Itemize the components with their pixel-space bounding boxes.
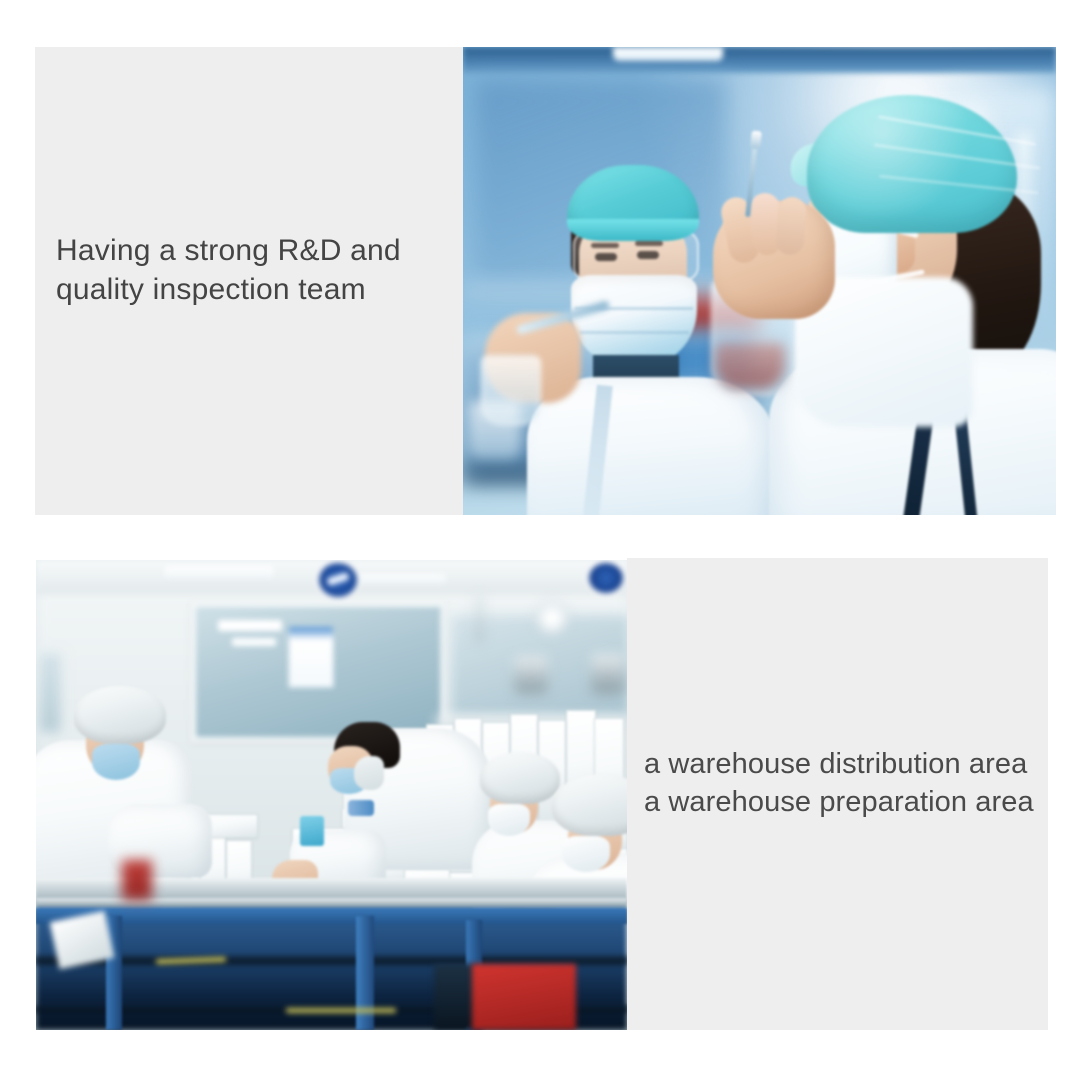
bottom-caption-line-2: a warehouse preparation area: [644, 783, 1048, 821]
teal-product-item: [300, 816, 324, 846]
interior-window-light-2: [232, 638, 276, 646]
flask-liquid: [715, 343, 785, 389]
hanging-tube: [476, 594, 483, 642]
blue-frame-rail-top: [36, 908, 627, 924]
steel-container-2: [591, 654, 625, 694]
hairnet-rib-1: [878, 115, 1036, 146]
yellow-floor-tape-2: [286, 1008, 396, 1013]
worker-left-face-mask: [92, 744, 140, 780]
blue-safety-sign-icon-2: [586, 560, 626, 596]
wall-clock-icon: [536, 602, 568, 634]
red-bin: [472, 964, 576, 1030]
worker-front-right-hairnet: [552, 774, 627, 836]
rd-quality-inspection-photo: Two lab technicians in blue hairnets, fa…: [463, 47, 1056, 515]
lab-ceiling: [463, 47, 1056, 73]
worker-bending-hood: [354, 756, 384, 790]
worker-bending-badge: [348, 800, 374, 816]
technician-right-hairnet: [807, 95, 1017, 233]
red-item-left: [122, 860, 152, 900]
worker-left-hairnet: [74, 686, 166, 744]
top-caption: Having a strong R&D and quality inspecti…: [56, 231, 446, 309]
worker-centre-right-face-mask: [488, 804, 530, 836]
hairnet-rib-3: [879, 175, 1038, 195]
wall-notice-poster: [288, 626, 334, 688]
technician-left-face-mask: [571, 275, 697, 367]
warehouse-packaging-photo: Workers in white coats and hairnets pack…: [36, 560, 627, 1030]
hand-finger-3: [775, 196, 807, 256]
top-text-panel: Having a strong R&D and quality inspecti…: [35, 47, 463, 515]
top-section: Having a strong R&D and quality inspecti…: [35, 47, 1056, 515]
technician-left-hairnet-band: [567, 219, 699, 241]
ceiling-light-icon-2: [354, 574, 446, 584]
steel-container-1: [514, 656, 548, 694]
bottom-caption: a warehouse distribution area a warehous…: [644, 745, 1048, 821]
bottom-text-panel: a warehouse distribution area a warehous…: [627, 558, 1048, 1030]
technician-left-mask-fold-2: [579, 331, 689, 334]
glass-beaker: [469, 401, 521, 459]
pipette-needle-tip: [750, 131, 762, 150]
top-caption-line-2: quality inspection team: [56, 270, 446, 309]
worker-front-right-face-mask: [562, 836, 610, 872]
interior-window-light: [218, 620, 282, 631]
top-caption-line-1: Having a strong R&D and: [56, 231, 446, 270]
page-root: Having a strong R&D and quality inspecti…: [0, 0, 1080, 1080]
ceiling-light-icon: [164, 566, 274, 578]
blue-safety-sign-icon: [316, 560, 360, 600]
hairnet-rib-2: [874, 143, 1041, 169]
bottom-caption-line-1: a warehouse distribution area: [644, 745, 1048, 783]
lab-ceiling-light-icon: [613, 47, 723, 61]
bottom-section: a warehouse distribution area a warehous…: [36, 558, 1048, 1030]
